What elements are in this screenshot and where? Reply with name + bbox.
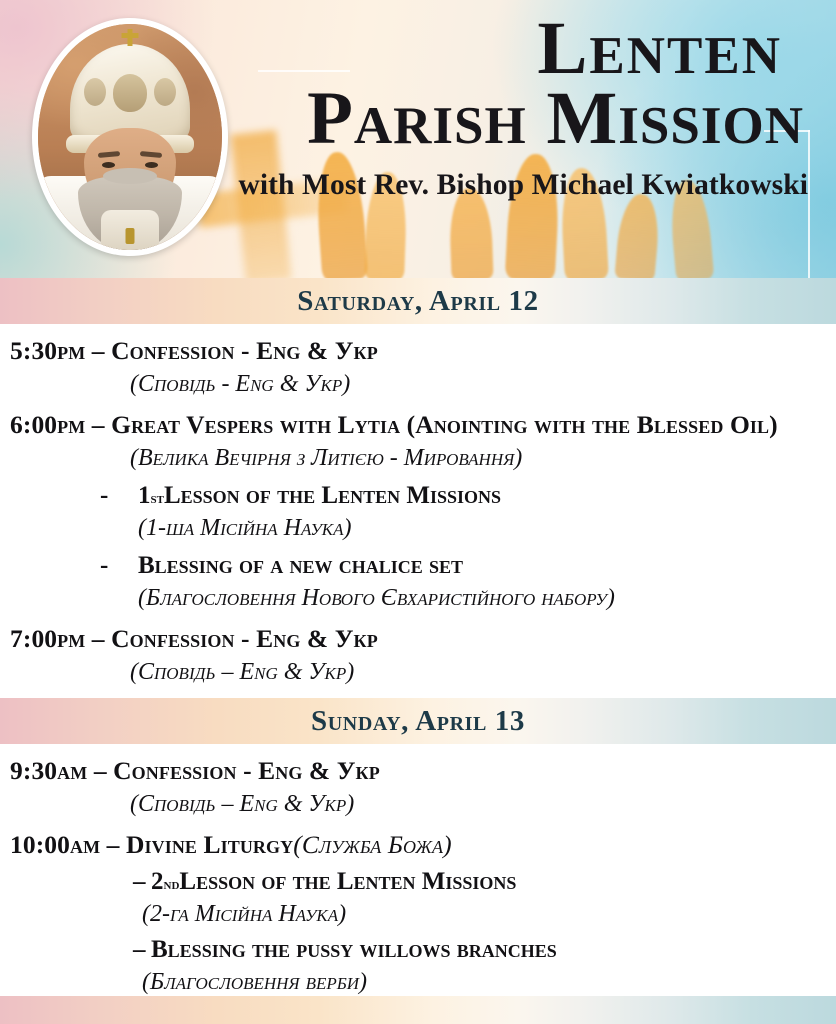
- ordinal-suffix: nd: [164, 876, 180, 894]
- schedule-sub-label: Blessing the pussy willows branches: [151, 936, 557, 964]
- schedule-dash: –: [100, 830, 126, 860]
- page-title-line1: Lenten: [0, 14, 810, 83]
- page-title-line2: Parish Mission: [0, 83, 810, 154]
- ordinal-suffix: st: [151, 490, 164, 508]
- schedule-row: 10:00am – Divine Liturgy (Служба Божа): [0, 818, 836, 860]
- schedule-row-translation: (Сповідь – Eng & Укр): [0, 654, 836, 686]
- schedule-row: –Blessing the pussy willows branches: [0, 928, 836, 964]
- day-band-label: Saturday, April 12: [297, 285, 538, 318]
- schedule-list: 5:30pm – Confession - Eng & Укр(Сповідь …: [0, 324, 836, 698]
- hand-shape: [614, 192, 661, 278]
- schedule-list: 9:30am – Confession - Eng & Укр(Сповідь …: [0, 744, 836, 1004]
- schedule-row: –2nd Lesson of the Lenten Missions: [0, 860, 836, 896]
- header-banner: Lenten Parish Mission with Most Rev. Bis…: [0, 0, 836, 278]
- schedule-time: 9:30am: [10, 756, 87, 786]
- schedule-sub-label: Blessing of a new chalice set: [138, 552, 463, 580]
- schedule-label: Confession - Eng & Укр: [113, 756, 380, 786]
- schedule-sub-translation: (2-га Місійна Наука): [0, 896, 836, 928]
- schedule-sub-translation: (1-ша Місійна Наука): [0, 510, 836, 542]
- day-band: Sunday, April 13: [0, 698, 836, 744]
- bottom-gradient-band: [0, 996, 836, 1024]
- schedule-time: 6:00pm: [10, 410, 85, 440]
- schedule-label: Great Vespers with Lytia (Anointing with…: [111, 410, 778, 440]
- schedule-row: 7:00pm – Confession - Eng & Укр: [0, 612, 836, 654]
- schedule-sub-label: Lesson of the Lenten Missions: [164, 482, 501, 510]
- schedule-row-translation: (Сповідь – Eng & Укр): [0, 786, 836, 818]
- schedule-dash: –: [85, 410, 111, 440]
- schedule-time: 7:00pm: [10, 624, 85, 654]
- schedule-sub-translation: (Благословення Нового Євхаристійного наб…: [0, 580, 836, 612]
- schedule-label: Divine Liturgy: [126, 830, 293, 860]
- schedule-sub-translation: (Благословення верби): [0, 964, 836, 996]
- schedule-row: 9:30am – Confession - Eng & Укр: [0, 744, 836, 786]
- schedule-sub-label: Lesson of the Lenten Missions: [179, 868, 516, 896]
- bullet-dash: –: [133, 936, 151, 964]
- schedule-row: 5:30pm – Confession - Eng & Укр: [0, 324, 836, 366]
- schedule-root: Saturday, April 125:30pm – Confession - …: [0, 278, 836, 1004]
- pectoral-cross-icon: [126, 228, 135, 244]
- schedule-dash: –: [85, 624, 111, 654]
- page-subtitle: with Most Rev. Bishop Michael Kwiatkowsk…: [0, 154, 810, 203]
- bullet-dash: –: [133, 868, 151, 896]
- schedule-row: 6:00pm – Great Vespers with Lytia (Anoin…: [0, 398, 836, 440]
- ordinal-number: 1: [138, 482, 151, 510]
- schedule-label: Confession - Eng & Укр: [111, 336, 378, 366]
- schedule-time: 5:30pm: [10, 336, 85, 366]
- day-band: Saturday, April 12: [0, 278, 836, 324]
- day-band-label: Sunday, April 13: [311, 705, 525, 738]
- schedule-row-translation: (Велика Вечірня з Литією - Мировання): [0, 440, 836, 472]
- schedule-dash: –: [85, 336, 111, 366]
- bullet-dash: -: [100, 552, 138, 580]
- schedule-time: 10:00am: [10, 830, 100, 860]
- schedule-row: -Blessing of a new chalice set: [0, 542, 836, 580]
- schedule-row: -1st Lesson of the Lenten Missions: [0, 472, 836, 510]
- schedule-row-translation: (Сповідь - Eng & Укр): [0, 366, 836, 398]
- title-block: Lenten Parish Mission with Most Rev. Bis…: [0, 14, 836, 204]
- lenten-mission-flyer: Lenten Parish Mission with Most Rev. Bis…: [0, 0, 836, 1024]
- bullet-dash: -: [100, 482, 138, 510]
- ordinal-number: 2: [151, 868, 164, 896]
- schedule-dash: –: [87, 756, 113, 786]
- schedule-label-translation: (Служба Божа): [293, 830, 451, 860]
- omophorion: [101, 210, 159, 250]
- schedule-label: Confession - Eng & Укр: [111, 624, 378, 654]
